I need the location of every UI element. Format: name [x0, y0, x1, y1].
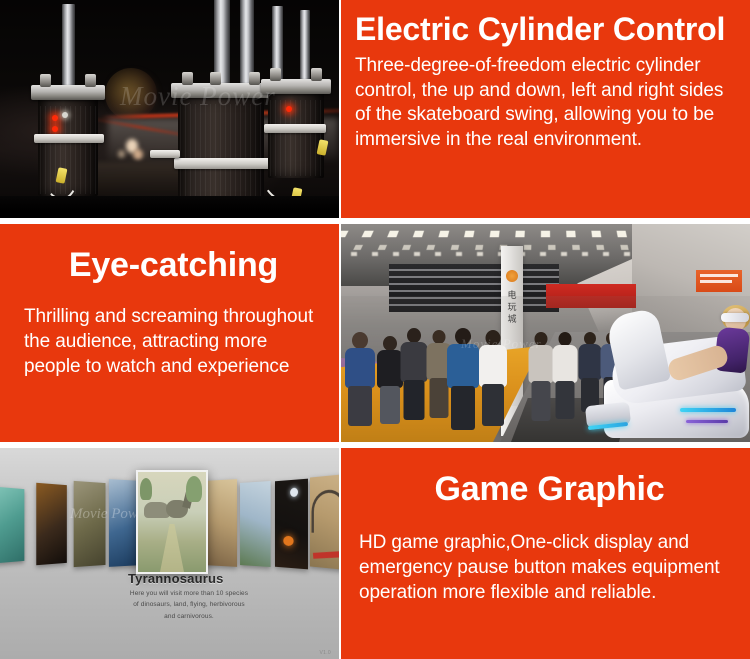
platform-base [0, 196, 339, 218]
booth-sign-red [696, 270, 742, 292]
game-graphic-photo: Movie Power Tyrannosaurus Here you will … [0, 448, 339, 659]
cover-coaster-sand[interactable] [310, 474, 339, 569]
panel-1-body: Three-degree-of-freedom electric cylinde… [355, 54, 742, 153]
watermark-text: Movie Power [461, 336, 631, 352]
feature-row-1: Movie Power Electric Cylinder Control Th… [0, 0, 750, 218]
visitor [343, 332, 377, 424]
game-coverflow [0, 472, 339, 570]
cover-roller-coaster-ice[interactable] [0, 487, 24, 563]
cover-tunnel-cave[interactable] [36, 483, 67, 565]
bokeh-light [118, 150, 125, 158]
vr-motion-chair [594, 308, 750, 438]
game-selection-screen: Movie Power Tyrannosaurus Here you will … [0, 448, 339, 659]
exhibition-photo: 电玩城 [341, 224, 750, 442]
electric-cylinder-text-panel: Electric Cylinder Control Three-degree-o… [341, 0, 750, 218]
photo-exhibition-hall: 电玩城 [341, 224, 750, 442]
motor-bolt [85, 74, 96, 87]
game-graphic-text-panel: Game Graphic HD game graphic,One-click d… [341, 448, 750, 659]
banner-logo-icon [506, 270, 518, 282]
motor-flange [31, 85, 105, 100]
cover-dinosaur-valley-selected[interactable] [136, 470, 208, 574]
vr-rider [686, 308, 750, 404]
eye-catching-text-panel: Eye-catching Thrilling and screaming thr… [0, 224, 339, 442]
chair-neon-strip [680, 408, 736, 412]
cover-dark-fire-cave[interactable] [275, 479, 308, 570]
cover-mountain-river[interactable] [240, 481, 271, 567]
panel-3-headline: Game Graphic [359, 470, 740, 508]
photo-electric-cylinder: Movie Power [0, 0, 339, 218]
cable-tie [150, 150, 180, 158]
cable-tie [34, 134, 104, 143]
chair-neon-strip [686, 420, 728, 423]
motor-bolt [40, 74, 51, 87]
feature-sheet: Movie Power Electric Cylinder Control Th… [0, 0, 750, 659]
panel-2-body: Thrilling and screaming throughout the a… [24, 304, 323, 379]
status-led [52, 115, 58, 121]
panel-1-headline: Electric Cylinder Control [355, 12, 742, 48]
cable-tie [174, 158, 270, 169]
feature-row-3: Movie Power Tyrannosaurus Here you will … [0, 448, 750, 659]
watermark-text: Movie Power [120, 78, 335, 114]
cable-tie [264, 124, 326, 133]
electric-cylinder-photo: Movie Power [0, 0, 339, 218]
cover-desert-canyon[interactable] [206, 479, 238, 567]
status-led [52, 126, 58, 132]
motor-fins [180, 104, 262, 206]
bokeh-light [133, 149, 143, 160]
cover-ancient-temple[interactable] [74, 481, 106, 567]
version-label: V1.0 [320, 650, 332, 656]
vr-headset-icon [721, 313, 749, 322]
panel-2-headline: Eye-catching [24, 246, 323, 284]
cylinder-rod [62, 4, 75, 90]
feature-row-2: Eye-catching Thrilling and screaming thr… [0, 224, 750, 442]
selected-game-description: Here you will visit more than 10 species… [128, 588, 250, 622]
cylinder-rod [300, 10, 310, 84]
status-led [62, 112, 68, 118]
panel-3-body: HD game graphic,One-click display and em… [359, 530, 740, 605]
